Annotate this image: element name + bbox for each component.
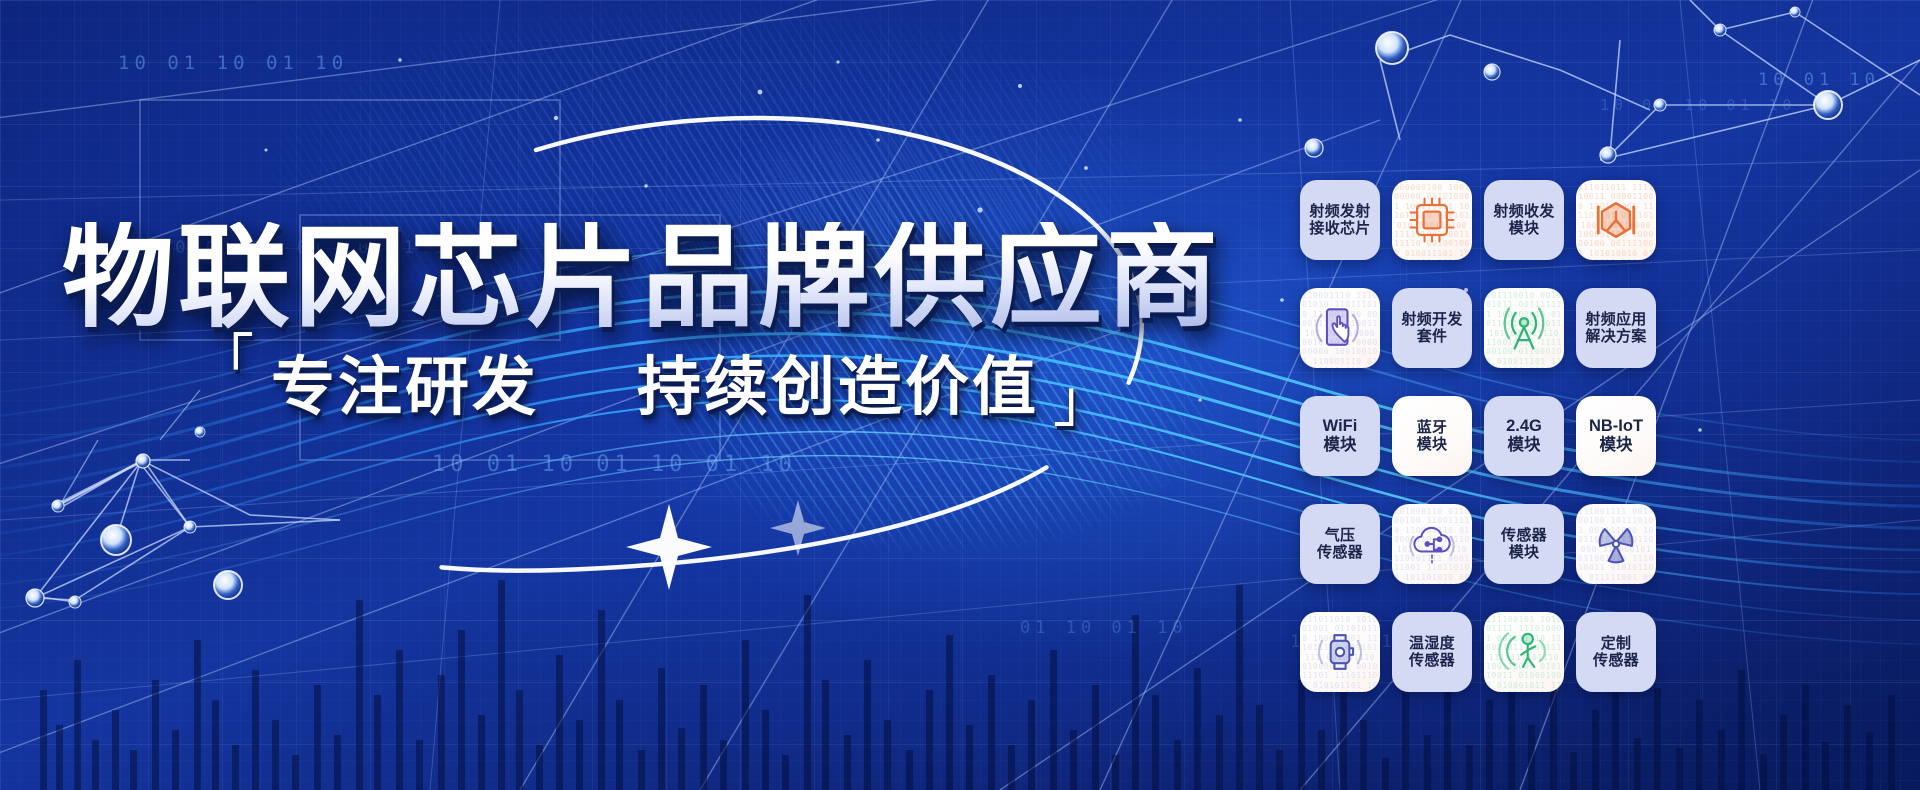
- tile-radiation-sensor[interactable]: 111001111 001100100 101110101 001111000 …: [1576, 504, 1656, 584]
- iot-chip-supplier-banner: 10 01 10 01 10 10 01 10 01 10 01 10 10 0…: [0, 0, 1920, 790]
- bracket-left: 「: [196, 333, 257, 391]
- tile-label: WiFi模块: [1320, 417, 1361, 455]
- radiation-icon: [1588, 516, 1644, 572]
- cloud-circuit-icon: [1404, 516, 1460, 572]
- tile-label: 定制传感器: [1590, 635, 1642, 670]
- tile-bluetooth-module[interactable]: 蓝牙模块: [1392, 396, 1472, 476]
- tile-24g-module[interactable]: 2.4G模块: [1484, 396, 1564, 476]
- binary-text-4: 10 01 10: [1758, 70, 1880, 90]
- tile-hexagon-module[interactable]: 111011011 111110011 000011000 110100001 …: [1576, 180, 1656, 260]
- tile-custom-sensor[interactable]: 定制传感器: [1576, 612, 1656, 692]
- tile-label: 温湿度传感器: [1406, 635, 1458, 670]
- tile-label: 蓝牙模块: [1414, 419, 1451, 454]
- tile-label: 传感器模块: [1498, 527, 1550, 562]
- subtitle-part-1: 专注研发: [271, 336, 539, 428]
- tile-label: NB-IoT模块: [1586, 417, 1646, 455]
- binary-text-3: 10 01 10 01 10 01 10: [432, 452, 797, 477]
- tile-label: 射频发射接收芯片: [1306, 203, 1373, 238]
- tile-antenna-tower[interactable]: 001110010 001001011 001111111 100000010 …: [1484, 288, 1564, 368]
- tile-touch-phone[interactable]: 110001110 111001010 110111010 111001100 …: [1300, 288, 1380, 368]
- tile-label: 射频收发模块: [1490, 203, 1557, 238]
- tile-temp-humidity-sensor[interactable]: 温湿度传感器: [1392, 612, 1472, 692]
- page-title: 物联网芯片品牌供应商: [62, 222, 1222, 334]
- binary-text-1: 10 01 10 01 10: [118, 52, 348, 74]
- motion-person-icon: [1496, 624, 1552, 680]
- tile-smartwatch[interactable]: 111011010 101001001 011010110 100010001 …: [1300, 612, 1380, 692]
- tile-nbiot-module[interactable]: NB-IoT模块: [1576, 396, 1656, 476]
- tile-motion-sensor[interactable]: 111100101 101001111 111010001 001011110 …: [1484, 612, 1564, 692]
- smartwatch-icon: [1312, 624, 1368, 680]
- binary-text-5: 10 01 10 01 10: [1600, 96, 1796, 114]
- tile-sensor-module[interactable]: 传感器模块: [1484, 504, 1564, 584]
- tile-label: 2.4G模块: [1503, 417, 1545, 455]
- tile-pressure-sensor[interactable]: 气压传感器: [1300, 504, 1380, 584]
- product-category-grid: 射频发射接收芯片000000100 100100000 001010001 10…: [1300, 180, 1656, 692]
- page-subtitle: 「 专注研发 持续创造价值 」: [196, 336, 1114, 428]
- antenna-tower-icon: [1496, 300, 1552, 356]
- tile-rf-dev-kit[interactable]: 射频开发套件: [1392, 288, 1472, 368]
- chip-icon: [1404, 192, 1460, 248]
- tile-rf-transceiver-chip[interactable]: 射频发射接收芯片: [1300, 180, 1380, 260]
- tile-chip[interactable]: 000000100 100100000 001010001 100110011 …: [1392, 180, 1472, 260]
- tile-label: 气压传感器: [1314, 527, 1366, 562]
- tile-wifi-module[interactable]: WiFi模块: [1300, 396, 1380, 476]
- tile-label: 射频应用解决方案: [1582, 311, 1649, 346]
- binary-text-6: 01 10 01 10: [1020, 618, 1188, 638]
- tile-rf-transceiver-module[interactable]: 射频收发模块: [1484, 180, 1564, 260]
- tile-rf-application-solution[interactable]: 射频应用解决方案: [1576, 288, 1656, 368]
- bracket-right: 」: [1053, 373, 1114, 431]
- tile-label: 射频开发套件: [1398, 311, 1465, 346]
- hexagon-module-icon: [1588, 192, 1644, 248]
- subtitle-part-2: 持续创造价值: [637, 336, 1039, 428]
- tile-cloud-circuit[interactable]: 001000110 011000100 110011110 110001110 …: [1392, 504, 1472, 584]
- touch-phone-icon: [1312, 300, 1368, 356]
